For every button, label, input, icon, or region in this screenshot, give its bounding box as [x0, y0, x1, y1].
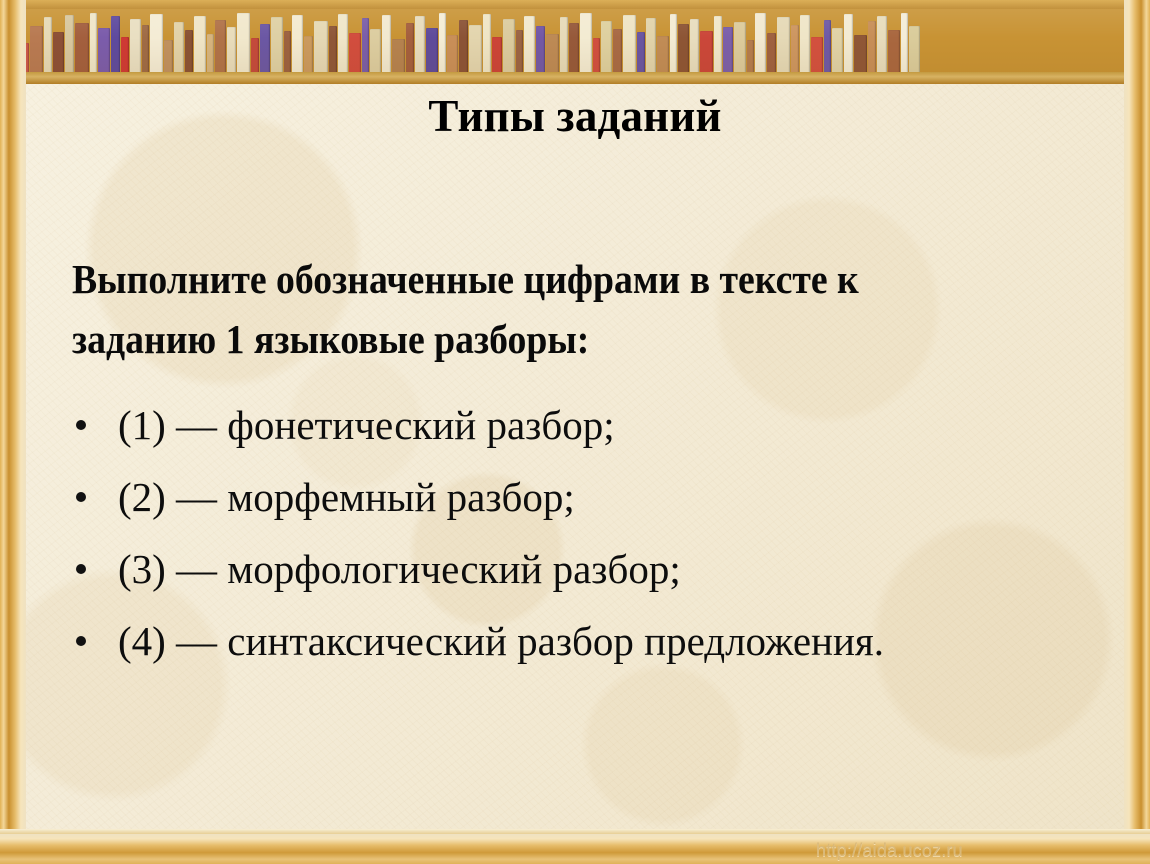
shelf-book-spine: [469, 25, 482, 73]
shelf-book-spine: [888, 30, 900, 73]
shelf-book-spine: [637, 32, 645, 73]
shelf-book-spine: [121, 37, 129, 73]
frame-border-bottom: [0, 834, 1150, 864]
shelf-book-spine: [292, 15, 303, 73]
list-item: (3) — морфологический разбор;: [72, 533, 1112, 605]
shelf-book-spine: [314, 21, 328, 73]
shelf-book-spine: [503, 19, 515, 73]
shelf-book-spine: [690, 19, 699, 73]
shelf-book-spine: [844, 14, 853, 73]
shelf-book-spine: [174, 22, 184, 73]
shelf-book-spine: [791, 25, 799, 73]
list-item-label: (2) — морфемный разбор;: [118, 474, 575, 520]
shelf-book-spine: [392, 39, 405, 73]
bullet-dot-icon: [76, 492, 86, 502]
shelf-book-spine: [142, 25, 149, 73]
shelf-book-spine: [349, 33, 361, 73]
shelf-book-spine: [824, 20, 831, 73]
shelf-book-spine: [251, 38, 259, 73]
shelf-book-spine: [130, 19, 141, 73]
shelf-book-spine: [194, 16, 206, 73]
shelf-book-spine: [65, 15, 74, 73]
shelf-book-spine: [811, 37, 823, 73]
shelf-book-spine: [623, 15, 636, 73]
shelf-book-spine: [646, 18, 656, 73]
list-item-label: (1) — фонетический разбор;: [118, 402, 615, 448]
shelf-book-spine: [44, 17, 52, 73]
shelf-books-row: [0, 7, 1150, 73]
shelf-book-spine: [284, 31, 291, 73]
list-item: (2) — морфемный разбор;: [72, 461, 1112, 533]
shelf-book-spine: [700, 31, 713, 73]
shelf-book-spine: [227, 27, 236, 73]
frame-border-right: [1124, 0, 1150, 864]
page-title: Типы заданий: [26, 88, 1124, 144]
shelf-book-spine: [613, 29, 622, 73]
shelf-book-spine: [569, 23, 579, 73]
shelf-book-spine: [237, 13, 250, 73]
shelf-book-spine: [877, 16, 887, 73]
shelf-book-spine: [832, 28, 843, 73]
shelf-book-spine: [329, 26, 337, 73]
shelf-book-spine: [747, 40, 754, 73]
shelf-book-spine: [546, 34, 559, 73]
shelf-book-spine: [854, 35, 867, 73]
shelf-book-spine: [53, 32, 64, 73]
shelf-book-spine: [483, 14, 491, 73]
shelf-book-spine: [207, 34, 214, 73]
shelf-book-spine: [447, 35, 458, 73]
shelf-book-spine: [271, 17, 283, 73]
shelf-book-spine: [723, 27, 733, 73]
task-type-list: (1) — фонетический разбор;(2) — морфемны…: [72, 389, 1112, 677]
lead-paragraph: Выполните обозначенные цифрами в тексте …: [72, 249, 937, 369]
shelf-book-spine: [734, 22, 746, 73]
frame-border-left: [0, 0, 26, 864]
slide-root: Типы заданий Выполните обозначенные цифр…: [0, 0, 1150, 864]
bullet-dot-icon: [76, 420, 86, 430]
shelf-book-spine: [901, 13, 908, 73]
shelf-book-spine: [755, 13, 766, 73]
shelf-book-spine: [909, 26, 920, 73]
shelf-book-spine: [30, 26, 43, 73]
shelf-book-spine: [426, 28, 438, 73]
shelf-book-spine: [678, 24, 689, 73]
shelf-book-spine: [75, 23, 89, 73]
shelf-bottom-edge: [0, 72, 1150, 84]
shelf-book-spine: [516, 30, 523, 73]
shelf-book-spine: [868, 21, 876, 73]
shelf-book-spine: [370, 29, 381, 73]
shelf-book-spine: [459, 20, 468, 73]
list-item: (1) — фонетический разбор;: [72, 389, 1112, 461]
shelf-book-spine: [185, 30, 193, 73]
shelf-book-spine: [304, 36, 313, 73]
shelf-book-spine: [111, 16, 120, 73]
shelf-book-spine: [714, 16, 722, 73]
shelf-book-spine: [90, 13, 97, 73]
shelf-book-spine: [657, 36, 669, 73]
shelf-book-spine: [260, 24, 270, 73]
shelf-book-spine: [767, 33, 776, 73]
shelf-book-spine: [593, 38, 600, 73]
shelf-book-spine: [338, 14, 348, 73]
source-watermark: http://aida.ucoz.ru: [816, 840, 963, 861]
shelf-book-spine: [215, 20, 226, 73]
shelf-book-spine: [406, 23, 414, 73]
shelf-book-spine: [150, 14, 163, 73]
bullet-dot-icon: [76, 564, 86, 574]
shelf-book-spine: [439, 13, 446, 73]
shelf-book-spine: [580, 13, 592, 73]
shelf-book-spine: [524, 16, 535, 73]
bullet-dot-icon: [76, 636, 86, 646]
bookshelf-header-banner: [0, 0, 1150, 84]
shelf-book-spine: [362, 18, 369, 73]
shelf-book-spine: [670, 14, 677, 73]
list-item-label: (4) — синтаксический разбор предложения.: [118, 618, 884, 664]
shelf-book-spine: [777, 17, 790, 73]
list-item-label: (3) — морфологический разбор;: [118, 546, 681, 592]
shelf-book-spine: [536, 26, 545, 73]
list-item: (4) — синтаксический разбор предложения.: [72, 605, 1112, 677]
slide-content: Типы заданий Выполните обозначенные цифр…: [26, 84, 1124, 835]
shelf-book-spine: [415, 16, 425, 73]
shelf-book-spine: [492, 37, 502, 73]
shelf-book-spine: [601, 21, 612, 73]
shelf-book-spine: [382, 15, 391, 73]
shelf-book-spine: [98, 28, 110, 73]
shelf-book-spine: [560, 17, 568, 73]
shelf-book-spine: [164, 40, 173, 73]
shelf-book-spine: [800, 15, 810, 73]
